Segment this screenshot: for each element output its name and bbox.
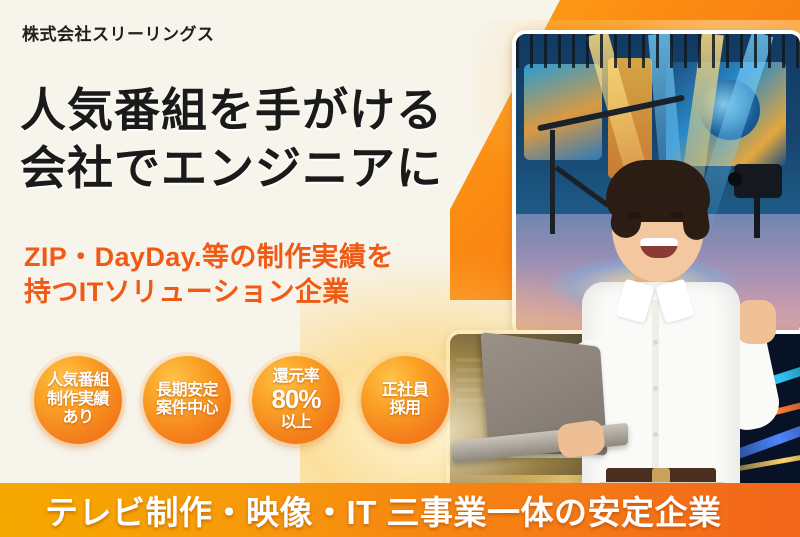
badge-return-rate: 還元率 80% 以上 <box>252 356 340 444</box>
shirt-button <box>653 432 658 437</box>
badge-line: あり <box>62 409 93 427</box>
badge-line: 人気番組 <box>47 372 109 390</box>
shirt-placket <box>652 300 659 470</box>
person-raised-fist <box>736 300 776 344</box>
subheadline-line-1: ZIP・DayDay.等の制作実績を <box>24 240 394 275</box>
lighting-truss <box>516 34 800 68</box>
badge-line: 制作実績 <box>47 391 109 409</box>
person-eye-left <box>628 212 641 218</box>
studio-screen-left <box>524 64 602 160</box>
badge-line: 以上 <box>280 414 311 432</box>
subheadline: ZIP・DayDay.等の制作実績を 持つITソリューション企業 <box>24 240 394 310</box>
person-photo <box>548 150 778 500</box>
badge-long-term-stable: 長期安定 案件中心 <box>143 356 231 444</box>
badge-popular-programs: 人気番組 制作実績 あり <box>34 356 122 444</box>
headline: 人気番組を手がける 会社でエンジニアに <box>20 82 443 198</box>
badge-line: 案件中心 <box>156 400 218 418</box>
recruitment-banner: 株式会社スリーリングス 人気番組を手がける 会社でエンジニアに ZIP・DayD… <box>0 0 800 537</box>
badge-line: 正社員 <box>382 382 429 400</box>
company-name: 株式会社スリーリングス <box>22 20 215 45</box>
badge-row: 人気番組 制作実績 あり 長期安定 案件中心 還元率 80% 以上 正社員 採用 <box>34 356 449 444</box>
headline-line-1: 人気番組を手がける <box>20 82 443 140</box>
subheadline-line-2: 持つITソリューション企業 <box>24 275 394 310</box>
badge-line: 採用 <box>389 400 420 418</box>
badge-line: 長期安定 <box>156 382 218 400</box>
person-eye-right <box>670 212 683 218</box>
person-hair <box>606 160 710 222</box>
shirt-button <box>653 386 658 391</box>
badge-fulltime-hiring: 正社員 採用 <box>361 356 449 444</box>
headline-line-2: 会社でエンジニアに <box>20 140 443 198</box>
footer-text: テレビ制作・映像・IT 三事業一体の安定企業 <box>45 486 722 534</box>
badge-value: 80% <box>271 386 320 413</box>
footer-banner: テレビ制作・映像・IT 三事業一体の安定企業 <box>0 483 800 537</box>
person-teeth <box>640 238 678 246</box>
shirt-button <box>653 340 658 345</box>
